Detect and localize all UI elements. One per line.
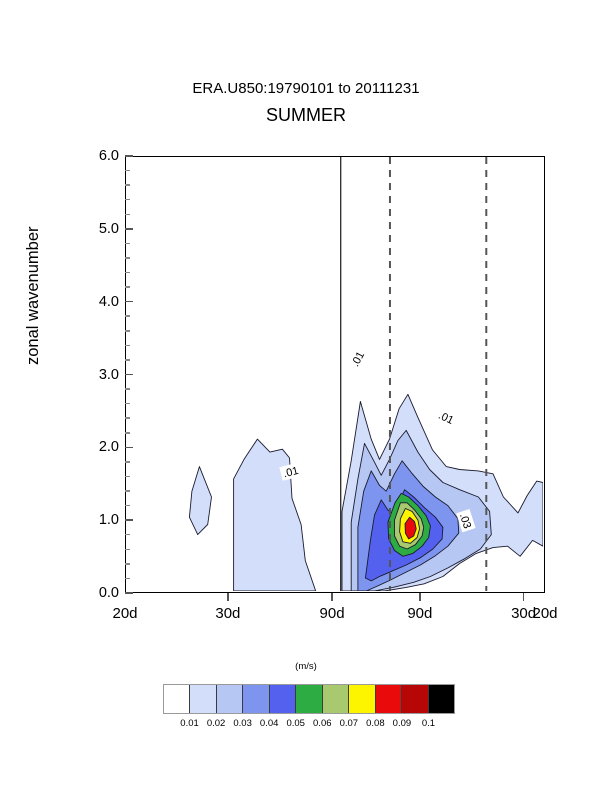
y-tick-minor — [125, 388, 130, 390]
figure-title-line2: SUMMER — [0, 105, 612, 126]
y-tick-minor — [125, 286, 130, 288]
y-axis-title: zonal wavenumber — [24, 227, 43, 366]
x-tick-label: 20d — [532, 605, 557, 622]
y-tick-label: 1.0 — [83, 512, 119, 528]
colorbar-cell[interactable] — [402, 685, 428, 713]
westward-slab — [234, 439, 316, 591]
colorbar-cell[interactable] — [323, 685, 349, 713]
y-tick-label: 4.0 — [83, 294, 119, 310]
colorbar-cell[interactable] — [270, 685, 296, 713]
x-axis-labels: 20d30d90d90d30d20d — [125, 593, 545, 633]
y-tick-minor — [125, 505, 130, 507]
x-tick-label: 90d — [407, 605, 432, 622]
contour-plot: .01.01.01.03 — [126, 157, 543, 591]
y-tick-major — [125, 301, 133, 303]
colorbar-cell[interactable] — [296, 685, 322, 713]
y-tick-minor — [125, 257, 130, 259]
colorbar-tick-label: 0.04 — [260, 718, 279, 729]
y-tick-minor — [125, 563, 130, 565]
y-tick-minor — [125, 578, 130, 580]
colorbar-tick-label: 0.09 — [393, 718, 412, 729]
colorbar-tick-label: 0.08 — [366, 718, 385, 729]
colorbar-units-label: (m/s) — [0, 661, 612, 672]
y-tick-minor — [125, 403, 130, 405]
plot-clip: .01.01.01.03 — [126, 157, 544, 592]
y-tick-minor — [125, 199, 130, 201]
y-tick-major — [125, 519, 133, 521]
y-tick-minor — [125, 461, 130, 463]
colorbar-tick-labels: 0.010.020.030.040.050.060.070.080.090.1 — [163, 718, 455, 736]
y-tick-minor — [125, 214, 130, 216]
colorbar-tick-label: 0.1 — [422, 718, 435, 729]
colorbar-tick-label: 0.03 — [233, 718, 252, 729]
westward-small-blob — [189, 467, 211, 535]
y-tick-label: 3.0 — [83, 367, 119, 383]
y-tick-label: 6.0 — [83, 148, 119, 164]
colorbar-cell[interactable] — [164, 685, 190, 713]
x-tick-label: 20d — [112, 605, 137, 622]
colorbar-tick-label: 0.01 — [180, 718, 199, 729]
colorbar-cell[interactable] — [429, 685, 454, 713]
x-tick — [523, 593, 525, 601]
colorbar-cell[interactable] — [376, 685, 402, 713]
colorbar-cell[interactable] — [349, 685, 375, 713]
y-tick-major — [125, 374, 133, 376]
figure-canvas: ERA.U850:19790101 to 20111231 SUMMER zon… — [0, 0, 612, 792]
y-tick-minor — [125, 243, 130, 245]
figure-title-line1: ERA.U850:19790101 to 20111231 — [0, 80, 612, 97]
y-tick-minor — [125, 534, 130, 536]
y-tick-minor — [125, 184, 130, 186]
colorbar-tick-label: 0.02 — [207, 718, 226, 729]
y-tick-minor — [125, 345, 130, 347]
colorbar-cell[interactable] — [243, 685, 269, 713]
x-tick — [419, 593, 421, 601]
x-tick-label: 30d — [215, 605, 240, 622]
colorbar-tick-label: 0.05 — [286, 718, 305, 729]
y-tick-minor — [125, 359, 130, 361]
colorbar-cell[interactable] — [190, 685, 216, 713]
colorbar[interactable] — [163, 684, 455, 714]
y-axis-labels: 0.01.02.03.04.05.06.0 — [75, 156, 119, 593]
colorbar-cell[interactable] — [217, 685, 243, 713]
y-axis-ticks — [125, 156, 135, 593]
colorbar-tick-label: 0.06 — [313, 718, 332, 729]
y-tick-minor — [125, 417, 130, 419]
y-tick-major — [125, 228, 133, 230]
y-tick-major — [125, 155, 133, 157]
plot-area: .01.01.01.03 — [125, 156, 545, 593]
x-tick — [331, 593, 333, 601]
y-tick-label: 5.0 — [83, 221, 119, 237]
y-tick-label: 2.0 — [83, 439, 119, 455]
y-tick-minor — [125, 490, 130, 492]
y-tick-minor — [125, 549, 130, 551]
y-tick-minor — [125, 330, 130, 332]
y-tick-minor — [125, 432, 130, 434]
y-tick-label: 0.0 — [83, 585, 119, 601]
y-tick-minor — [125, 170, 130, 172]
y-tick-minor — [125, 476, 130, 478]
y-tick-minor — [125, 315, 130, 317]
y-tick-minor — [125, 272, 130, 274]
colorbar-tick-label: 0.07 — [340, 718, 359, 729]
x-tick — [227, 593, 229, 601]
contour-value-label: .01 — [282, 465, 300, 480]
x-tick-label: 90d — [320, 605, 345, 622]
y-tick-major — [125, 447, 133, 449]
